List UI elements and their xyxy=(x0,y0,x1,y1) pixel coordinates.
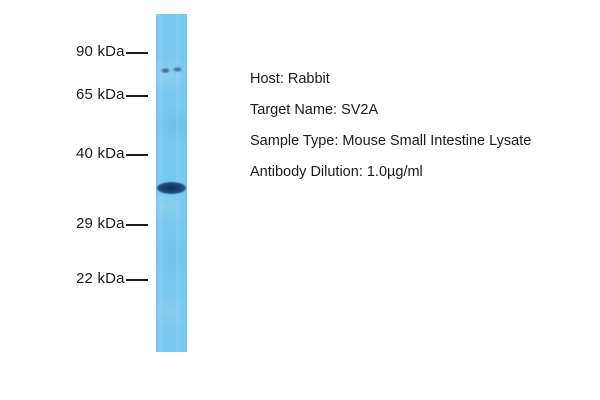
ladder-mark-22: 22 kDa xyxy=(76,270,148,287)
ladder-mark-29: 29 kDa xyxy=(76,215,148,232)
info-line-target-name: Target Name: SV2A xyxy=(250,95,590,126)
ladder-mark-40: 40 kDa xyxy=(76,145,148,162)
ladder-mark-65: 65 kDa xyxy=(76,86,148,103)
info-line-sample-type: Sample Type: Mouse Small Intestine Lysat… xyxy=(250,126,590,157)
ladder-label-90: 90 kDa xyxy=(76,43,125,60)
ladder-label-40: 40 kDa xyxy=(76,145,125,162)
info-line-host: Host: Rabbit xyxy=(250,64,590,95)
western-blot-figure: 90 kDa 65 kDa 40 kDa 29 kDa 22 kDa Host:… xyxy=(0,0,600,400)
faint-band-upper-right xyxy=(173,67,182,72)
ladder-label-22: 22 kDa xyxy=(76,270,125,287)
primary-band xyxy=(157,182,186,194)
info-line-antibody-dilution: Antibody Dilution: 1.0µg/ml xyxy=(250,157,590,188)
assay-info-block: Host: Rabbit Target Name: SV2A Sample Ty… xyxy=(250,64,590,188)
ladder-tick-22 xyxy=(126,279,148,281)
ladder-tick-65 xyxy=(126,95,148,97)
ladder-mark-90: 90 kDa xyxy=(76,43,148,60)
ladder-label-29: 29 kDa xyxy=(76,215,125,232)
ladder-tick-90 xyxy=(126,52,148,54)
ladder-tick-40 xyxy=(126,154,148,156)
ladder-label-65: 65 kDa xyxy=(76,86,125,103)
ladder-tick-29 xyxy=(126,224,148,226)
blot-lane xyxy=(156,14,187,352)
faint-band-upper-left xyxy=(161,68,170,73)
